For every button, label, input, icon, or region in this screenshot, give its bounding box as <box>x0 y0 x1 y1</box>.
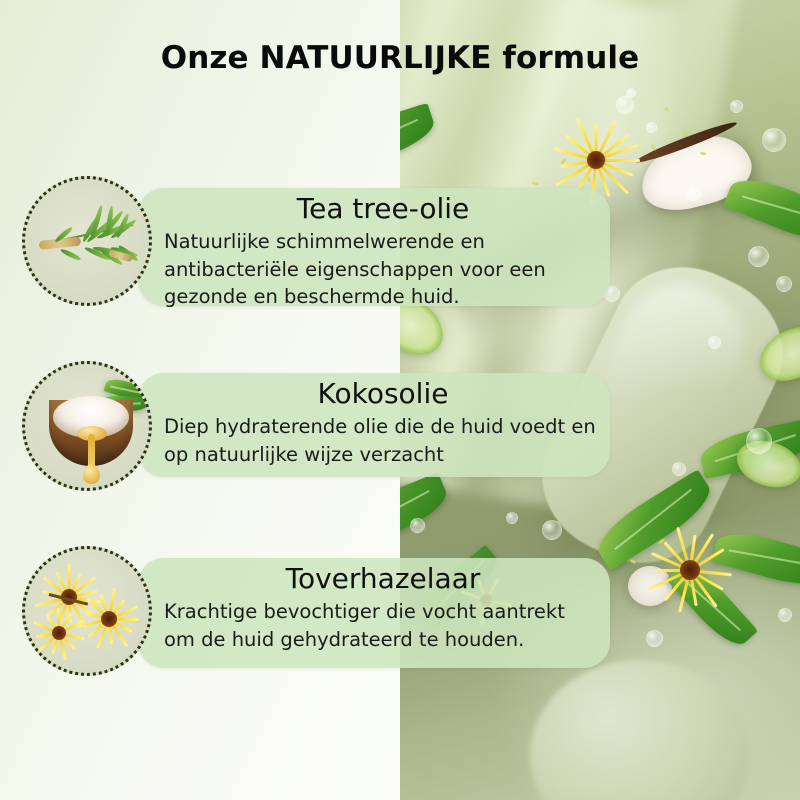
water-droplet <box>506 512 518 524</box>
ingredient-title: Tea tree-olie <box>168 192 598 225</box>
ingredient-card: Tea tree-olie Natuurlijke schimmelwerend… <box>138 188 610 306</box>
ingredient-card: Toverhazelaar Krachtige bevochtiger die … <box>138 558 610 668</box>
ingredient-description: Diep hydraterende olie die de huid voedt… <box>164 413 598 468</box>
witch-hazel-flower-icon <box>22 546 152 676</box>
coconut-oil-icon <box>22 361 152 491</box>
tea-tree-sprig-icon <box>22 176 152 306</box>
water-droplet <box>762 128 786 152</box>
water-droplet <box>708 336 721 349</box>
water-droplet <box>616 96 634 114</box>
water-droplet <box>646 122 657 133</box>
ingredient-description: Natuurlijke schimmelwerende en antibacte… <box>164 228 598 311</box>
ingredient-row: Kokosolie Diep hydraterende olie die de … <box>0 361 800 501</box>
oil-droplet <box>83 464 100 484</box>
ingredient-title: Kokosolie <box>168 377 598 410</box>
poster: Onze NATUURLIJKE formule Tea tree-olie N… <box>0 0 800 800</box>
ingredient-card: Kokosolie Diep hydraterende olie die de … <box>138 373 610 477</box>
water-droplet <box>730 100 743 113</box>
ingredient-row: Tea tree-olie Natuurlijke schimmelwerend… <box>0 176 800 316</box>
water-droplet <box>410 518 425 533</box>
water-droplet <box>626 88 636 98</box>
ingredient-description: Krachtige bevochtiger die vocht aantrekt… <box>164 598 598 653</box>
ingredient-title: Toverhazelaar <box>168 562 598 595</box>
page-title: Onze NATUURLIJKE formule <box>0 40 800 76</box>
water-droplet <box>542 520 562 540</box>
ingredient-row: Toverhazelaar Krachtige bevochtiger die … <box>0 546 800 686</box>
